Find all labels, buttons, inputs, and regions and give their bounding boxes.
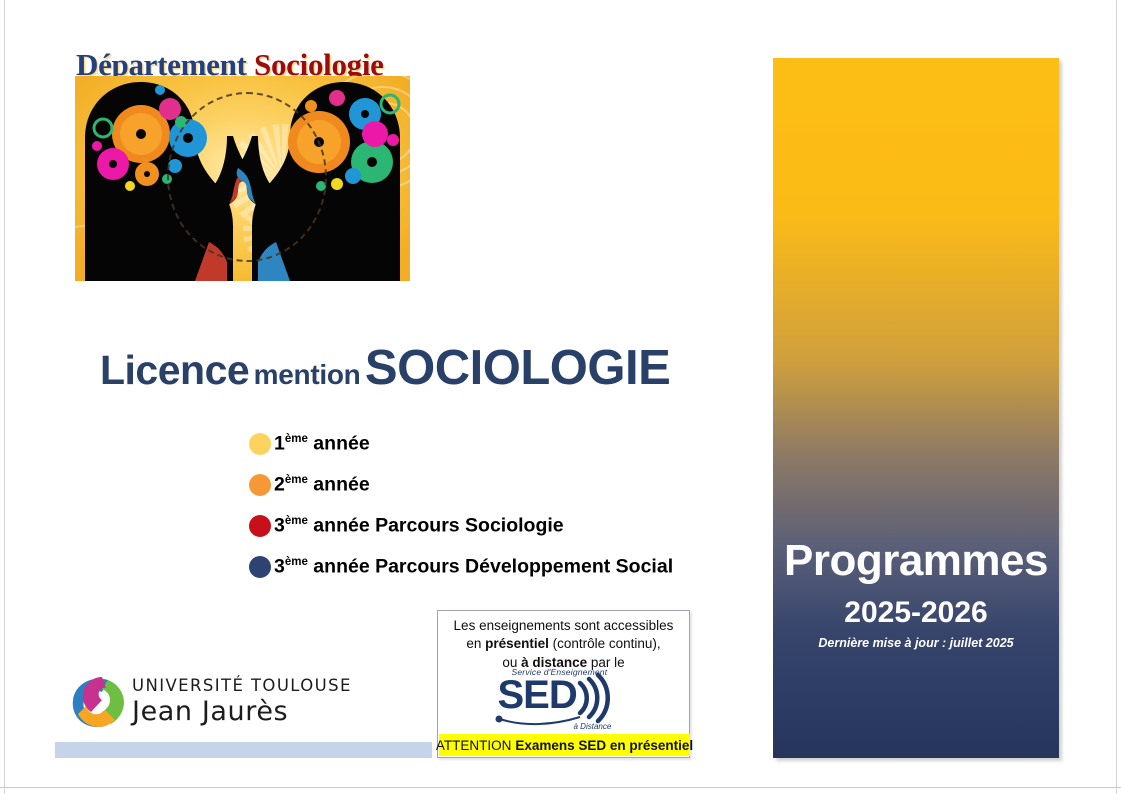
list-item[interactable]: 1ème année	[249, 423, 673, 464]
panel-title: Programmes	[773, 536, 1059, 586]
university-logo: UNIVERSITÉ TOULOUSE Jean Jaurès	[68, 674, 318, 734]
sed-info-text: Les enseignements sont accessibles en pr…	[438, 611, 689, 672]
university-swoosh-icon	[68, 674, 126, 730]
title-licence: Licence	[100, 347, 249, 393]
list-item[interactable]: 2ème année	[249, 464, 673, 505]
info-line-1: Les enseignements sont accessibles	[438, 617, 689, 635]
dashed-connection-circle	[167, 92, 327, 262]
list-item[interactable]: 3ème année Parcours Sociologie	[249, 505, 673, 546]
panel-academic-year: 2025-2026	[773, 596, 1059, 630]
sed-distance-label: à Distance	[574, 722, 612, 731]
bullet-dot-icon	[249, 474, 271, 496]
programmes-panel: Programmes 2025-2026 Dernière mise à jou…	[773, 58, 1059, 758]
university-line1: UNIVERSITÉ TOULOUSE	[132, 676, 352, 695]
list-item-label: 3ème année Parcours Sociologie	[274, 516, 564, 536]
attention-word: ATTENTION	[436, 738, 512, 753]
bullet-dot-icon	[249, 556, 271, 578]
university-line2: Jean Jaurès	[132, 696, 352, 727]
list-item[interactable]: 3ème année Parcours Développement Social	[249, 546, 673, 587]
page-border-bottom	[0, 787, 1121, 788]
sed-info-box: Les enseignements sont accessibles en pr…	[437, 610, 690, 758]
attention-message: Examens SED en présentiel	[515, 738, 693, 753]
title-sociologie: SOCIOLOGIE	[365, 341, 670, 395]
bullet-dot-icon	[249, 433, 271, 455]
list-item-label: 2ème année	[274, 475, 370, 495]
list-item-label: 3ème année Parcours Développement Social	[274, 557, 673, 577]
year-list: 1ème année 2ème année 3ème année Parcour…	[249, 423, 673, 587]
status-badge: ATTENTION Examens SED en présentiel	[439, 734, 690, 756]
title-mention: mention	[254, 359, 361, 390]
page-border-left	[4, 0, 5, 794]
panel-last-update: Dernière mise à jour : juillet 2025	[773, 636, 1059, 650]
page-title: Licence mention SOCIOLOGIE	[100, 340, 670, 396]
bullet-dot-icon	[249, 515, 271, 537]
university-name: UNIVERSITÉ TOULOUSE Jean Jaurès	[132, 676, 352, 727]
footer-accent-bar	[55, 742, 432, 758]
list-item-label: 1ème année	[274, 434, 370, 454]
slide-page: Département Sociologie	[0, 0, 1121, 794]
sed-logo: Service d'Enseignement SED à Distance	[484, 667, 644, 729]
heads-gears-illustration	[75, 76, 410, 281]
sed-soundwave-icon	[484, 667, 644, 729]
page-border-right	[1116, 0, 1117, 794]
info-line-2: en présentiel (contrôle continu),	[438, 635, 689, 653]
